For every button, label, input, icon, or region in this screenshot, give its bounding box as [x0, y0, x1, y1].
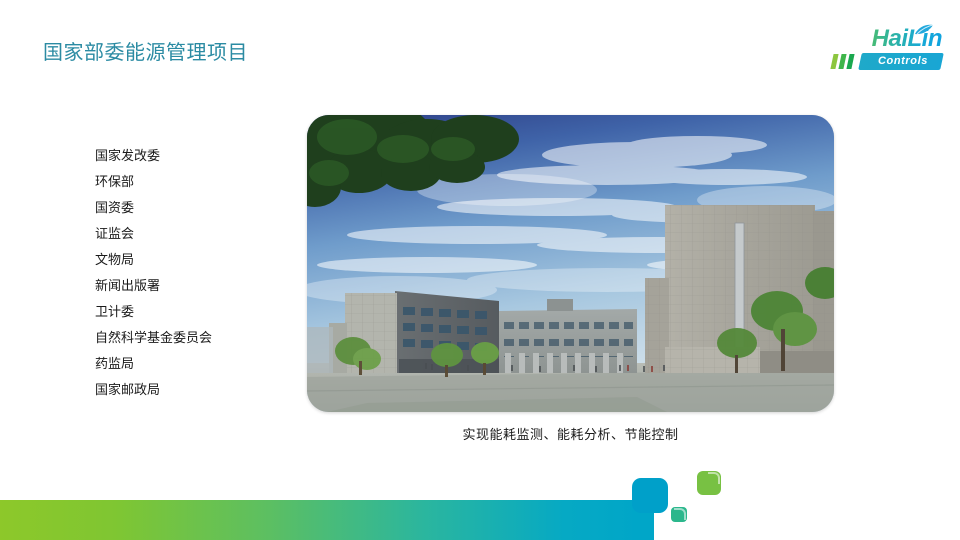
list-item: 环保部 — [95, 169, 315, 195]
footer-deco-blue-block — [632, 478, 668, 513]
brand-logo-subtitle: Controls — [862, 53, 944, 70]
slide-root: 国家部委能源管理项目 HaiLin Controls 国家发改委 环保部 国资委… — [0, 0, 960, 540]
leaf-icon — [914, 24, 934, 36]
list-item: 国资委 — [95, 195, 315, 221]
list-item: 国家发改委 — [95, 143, 315, 169]
photo-caption: 实现能耗监测、能耗分析、节能控制 — [307, 424, 834, 443]
list-item: 卫计委 — [95, 299, 315, 325]
list-item: 国家邮政局 — [95, 377, 315, 403]
project-photo-image — [307, 115, 834, 412]
agency-list: 国家发改委 环保部 国资委 证监会 文物局 新闻出版署 卫计委 自然科学基金委员… — [95, 143, 315, 403]
brand-logo: HaiLin Controls — [822, 26, 942, 74]
footer-deco-teal-square — [671, 507, 687, 522]
list-item: 自然科学基金委员会 — [95, 325, 315, 351]
brand-logo-subwordmark: Controls — [832, 53, 942, 70]
footer-deco-green-square — [697, 471, 721, 495]
list-item: 新闻出版署 — [95, 273, 315, 299]
list-item: 证监会 — [95, 221, 315, 247]
project-photo — [307, 115, 834, 412]
footer-gradient-bar — [0, 500, 641, 540]
page-title: 国家部委能源管理项目 — [43, 40, 248, 66]
list-item: 文物局 — [95, 247, 315, 273]
logo-bars-icon — [832, 54, 858, 69]
list-item: 药监局 — [95, 351, 315, 377]
